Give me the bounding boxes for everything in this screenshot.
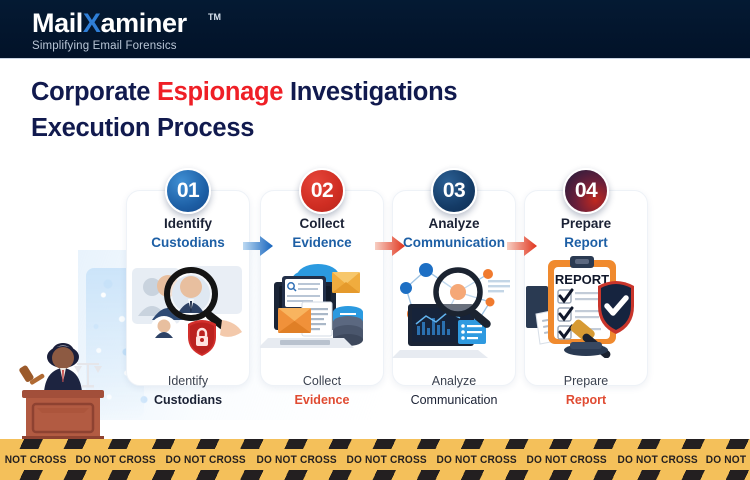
step-caption-3: Analyze Communication xyxy=(392,372,516,410)
process-steps: 01 02 03 04 Identify Custodians Collect … xyxy=(126,168,664,418)
logo-text-x: X xyxy=(83,8,101,38)
step-caption-1: Identify Custodians xyxy=(126,372,250,410)
step-caption-1-line1: Identify xyxy=(126,372,250,391)
judge-bench-gavel-scales-icon xyxy=(8,322,118,442)
infographic-page: MailXaminer TM Simplifying Email Forensi… xyxy=(0,0,750,480)
step-heading-4-line1: Prepare xyxy=(524,214,648,233)
tape-stripes-top xyxy=(0,439,750,449)
tape-text-item: DO NOT CROSS xyxy=(256,454,336,466)
step-caption-1-line2: Custodians xyxy=(126,391,250,410)
step-caption-4: Prepare Report xyxy=(524,372,648,410)
step-heading-2: Collect Evidence xyxy=(260,214,384,252)
title-highlight-espionage: Espionage xyxy=(157,78,283,106)
step-heading-1: Identify Custodians xyxy=(126,214,250,252)
step-caption-3-line1: Analyze xyxy=(392,372,516,391)
step-badge-1: 01 xyxy=(165,168,211,214)
step-badge-2: 02 xyxy=(299,168,345,214)
report-clipboard-shield-gavel-icon: REPORT xyxy=(524,254,648,358)
logo-wordmark: MailXaminer xyxy=(32,8,187,38)
step-heading-3-line1: Analyze xyxy=(392,214,516,233)
step-heading-3: Analyze Communication xyxy=(392,214,516,252)
step-heading-4: Prepare Report xyxy=(524,214,648,252)
tape-text-item: DO NOT xyxy=(706,454,746,466)
arrow-step1-to-step2-icon xyxy=(243,236,273,256)
step-caption-2-line1: Collect xyxy=(260,372,384,391)
logo-text-aminer: aminer xyxy=(101,8,187,38)
step-caption-2: Collect Evidence xyxy=(260,372,384,410)
step-heading-2-line1: Collect xyxy=(260,214,384,233)
step-heading-1-line1: Identify xyxy=(126,214,250,233)
tape-text-item: DO NOT CROSS xyxy=(527,454,607,466)
tape-text-item: DO NOT CROSS xyxy=(76,454,156,466)
step-heading-2-line2: Evidence xyxy=(260,233,384,252)
tape-text-item: DO NOT CROSS xyxy=(437,454,517,466)
title-line-2: Execution Process xyxy=(31,114,254,142)
step-caption-4-line1: Prepare xyxy=(524,372,648,391)
step-heading-4-line2: Report xyxy=(524,233,648,252)
trademark-symbol: TM xyxy=(208,12,221,22)
step-badge-3: 03 xyxy=(431,168,477,214)
step-caption-4-line2: Report xyxy=(524,391,648,410)
tape-text-row: NOT CROSSDO NOT CROSSDO NOT CROSSDO NOT … xyxy=(0,449,750,470)
logo-tagline: Simplifying Email Forensics xyxy=(32,39,187,53)
step-caption-2-line2: Evidence xyxy=(260,391,384,410)
laptop-network-magnifier-icon xyxy=(392,254,516,358)
page-title: Corporate Espionage Investigations Execu… xyxy=(31,74,671,146)
header-banner: MailXaminer TM Simplifying Email Forensi… xyxy=(0,0,750,58)
step-badge-4: 04 xyxy=(563,168,609,214)
mailxaminer-logo[interactable]: MailXaminer TM Simplifying Email Forensi… xyxy=(32,8,187,53)
tape-text-item: DO NOT CROSS xyxy=(346,454,426,466)
magnifier-person-shield-icon xyxy=(126,254,250,358)
arrow-step2-to-step3-icon xyxy=(375,236,405,256)
tape-text-item: DO NOT CROSS xyxy=(166,454,246,466)
step-heading-3-line2: Communication xyxy=(392,233,516,252)
step-heading-1-line2: Custodians xyxy=(126,233,250,252)
step-caption-3-line2: Communication xyxy=(392,391,516,410)
title-part-b: Investigations xyxy=(283,78,457,106)
crime-scene-tape: NOT CROSSDO NOT CROSSDO NOT CROSSDO NOT … xyxy=(0,439,750,480)
tape-text-item: NOT CROSS xyxy=(5,454,67,466)
laptop-email-cloud-database-icon xyxy=(260,254,384,358)
tape-stripes-bottom xyxy=(0,470,750,480)
arrow-step3-to-step4-icon xyxy=(507,236,537,256)
title-part-a: Corporate xyxy=(31,78,157,106)
logo-text-mail: Mail xyxy=(32,8,83,38)
header-divider xyxy=(0,58,750,59)
tape-text-item: DO NOT CROSS xyxy=(617,454,697,466)
